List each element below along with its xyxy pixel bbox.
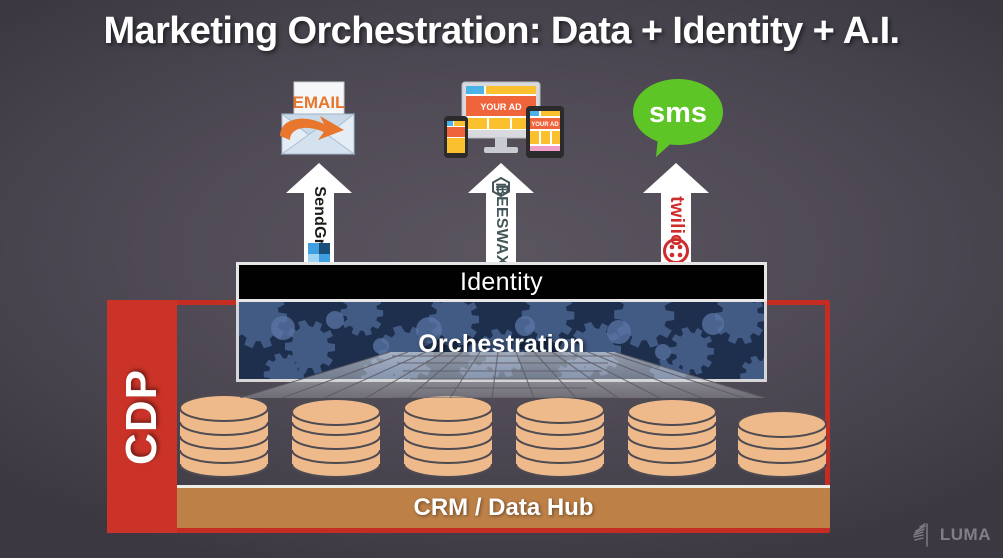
channel-arrow-sendgrid: SendGrid [286,163,352,268]
cdp-label: CDP [117,369,167,465]
email-envelope-icon: EMAIL [270,78,366,162]
identity-bar: Identity [236,262,767,302]
channel-arrow-beeswax: BEESWAX [468,163,534,268]
luma-text: LUMA [940,525,991,545]
crm-data-hub-bar: CRM / Data Hub [177,485,830,528]
orchestration-label: Orchestration [239,330,764,359]
identity-label: Identity [460,268,543,297]
luma-watermark: LUMA [913,522,991,548]
cdp-label-bar: CDP [107,300,177,533]
channel-arrow-twilio: twilio [643,163,709,268]
beeswax-hexagon-logo-icon [491,177,511,197]
page-title: Marketing Orchestration: Data + Identity… [0,10,1003,53]
crm-data-hub-label: CRM / Data Hub [414,494,594,522]
orchestration-panel: Orchestration [236,302,767,382]
svg-text:EMAIL: EMAIL [293,93,346,112]
database-cylinder-icon [177,386,272,486]
svg-text:YOUR AD: YOUR AD [480,102,522,112]
display-ad-devices-icon: YOUR AD YOUR AD [438,80,568,162]
svg-text:YOUR AD: YOUR AD [531,122,559,128]
database-cylinder-icon [513,386,608,486]
svg-text:sms: sms [649,97,707,129]
sms-bubble-icon: sms [632,75,724,161]
database-cylinder-icon [735,386,830,486]
database-cylinder-icon [401,386,496,486]
twilio-circle-logo-icon [663,238,689,264]
database-cylinder-icon [289,386,384,486]
database-cylinder-icon [625,386,720,486]
database-cylinder-row [177,386,830,488]
diagram-canvas: Marketing Orchestration: Data + Identity… [0,0,1003,558]
luma-starburst-icon [913,522,937,548]
